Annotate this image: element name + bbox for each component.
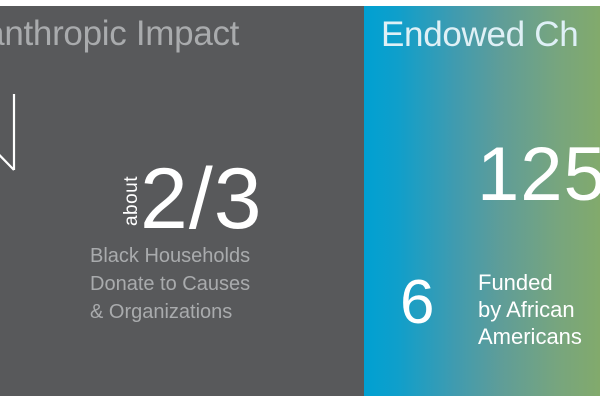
fraction-value: 2/3 xyxy=(140,147,263,251)
fraction-caption-line3: & Organizations xyxy=(90,298,360,326)
fraction-caption-line1: Black Households xyxy=(90,242,360,270)
left-panel-title: Philanthropic Impact xyxy=(0,14,364,54)
infographic-canvas: Philanthropic Impact African olds ds ual… xyxy=(0,6,600,396)
right-panel-title: Endowed Ch xyxy=(381,15,578,55)
funded-label: Funded by African Americans xyxy=(478,269,582,350)
funded-statistic: 6 Funded by African Americans xyxy=(400,264,600,356)
left-stat-one-line2: olds xyxy=(0,195,1,221)
philanthropic-impact-panel: Philanthropic Impact African olds ds ual… xyxy=(0,6,364,396)
fraction-statistic: about 2/3 xyxy=(112,160,342,250)
in-statistic-glyph xyxy=(0,90,74,178)
funded-label-line1: Funded xyxy=(478,269,582,296)
left-stat-one-line1: African xyxy=(0,169,1,195)
fraction-caption: Black Households Donate to Causes & Orga… xyxy=(90,242,360,326)
endowed-chairs-count: 125 xyxy=(477,132,600,218)
funded-count: 6 xyxy=(400,264,435,342)
endowed-chairs-panel: Endowed Ch 125 6 Funded by African Ameri… xyxy=(364,6,600,396)
funded-label-line2: by African xyxy=(478,296,582,323)
left-stat-one: African olds xyxy=(0,169,1,221)
funded-label-line3: Americans xyxy=(478,323,582,350)
fraction-caption-line2: Donate to Causes xyxy=(90,270,360,298)
